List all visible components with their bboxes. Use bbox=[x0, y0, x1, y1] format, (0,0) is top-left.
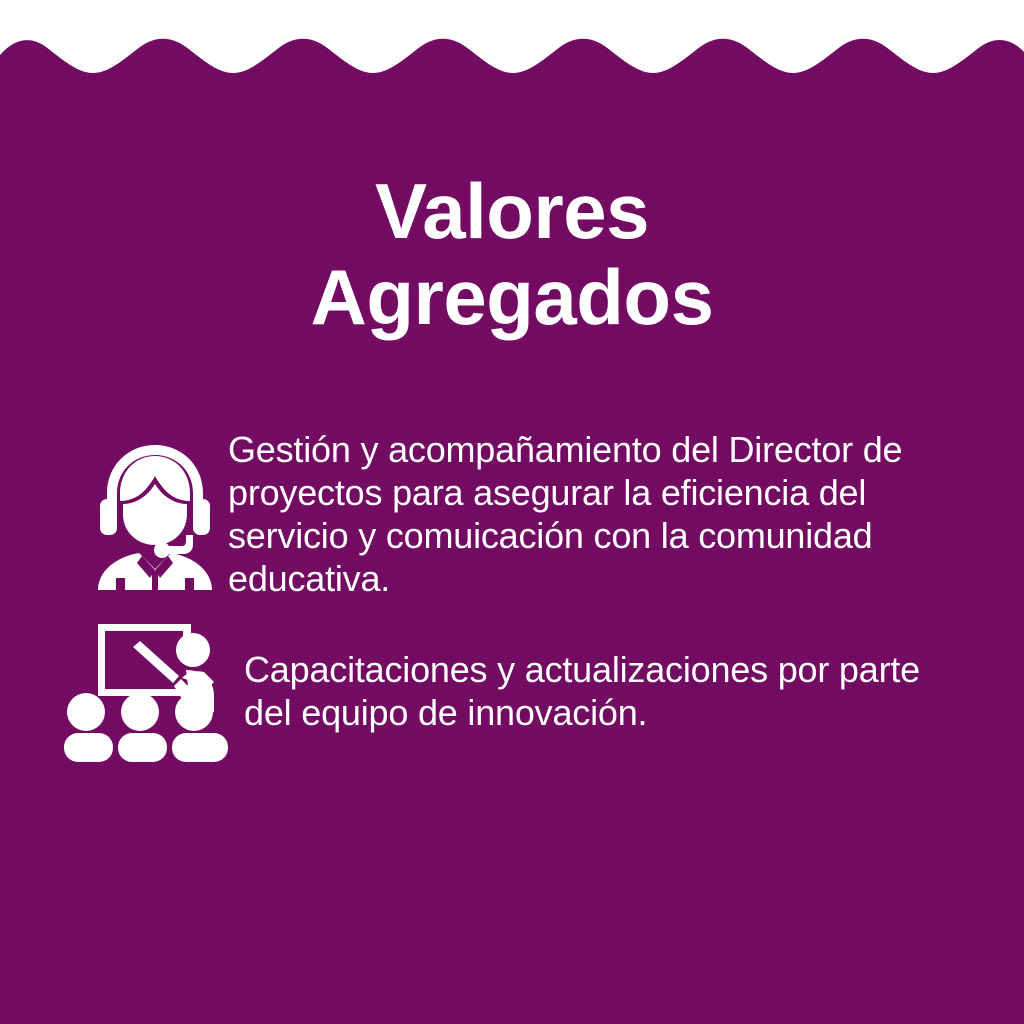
feature-text-1-content: Gestión y acompañamiento del Director de… bbox=[228, 428, 948, 600]
page-title: Valores Agregados bbox=[0, 168, 1024, 340]
feature-text-2: Capacitaciones y actualizaciones por par… bbox=[244, 648, 944, 734]
training-classroom-presenter-icon bbox=[62, 620, 230, 762]
feature-list: Gestión y acompañamiento del Director de… bbox=[0, 424, 1024, 770]
feature-text-2-content: Capacitaciones y actualizaciones por par… bbox=[244, 648, 944, 734]
support-headset-agent-icon bbox=[96, 442, 214, 590]
title-line-1: Valores bbox=[0, 168, 1024, 254]
poster-canvas: Valores Agregados bbox=[0, 0, 1024, 1024]
list-item: Gestión y acompañamiento del Director de… bbox=[0, 424, 1024, 620]
feature-text-1: Gestión y acompañamiento del Director de… bbox=[228, 428, 948, 600]
title-line-2: Agregados bbox=[0, 254, 1024, 340]
list-item: Capacitaciones y actualizaciones por par… bbox=[0, 620, 1024, 770]
